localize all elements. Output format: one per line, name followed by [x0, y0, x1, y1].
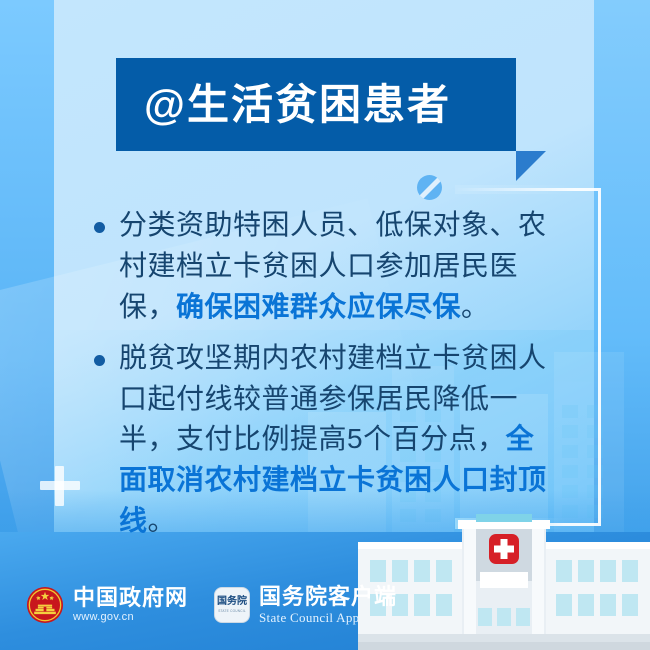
brand-gov-cn-url: www.gov.cn	[73, 612, 188, 624]
bullet-text-2: 脱贫攻坚期内农村建档立卡贫困人口起付线较普通参保居民降低一半，支付比例提高5个百…	[119, 338, 562, 542]
brand-state-council-en: State Council App	[259, 611, 397, 625]
bullet-1-seg-2: 。	[461, 291, 490, 322]
china-national-emblem-icon	[26, 586, 64, 624]
bullet-text-1: 分类资助特困人员、低保对象、农村建档立卡贫困人口参加居民医保，确保困难群众应保尽…	[119, 205, 562, 328]
bullet-dot-icon	[94, 222, 105, 233]
list-item: 脱贫攻坚期内农村建档立卡贫困人口起付线较普通参保居民降低一半，支付比例提高5个百…	[94, 338, 562, 542]
footer: 中国政府网 www.gov.cn 国务院 STATE COUNCIL 国务院客户…	[0, 560, 650, 650]
poster-root: @生活贫困患者 分类资助特困人员、低保对象、农村建档立卡贫困人口参加居民医保，确…	[0, 0, 650, 650]
bullet-2-seg-0: 脱贫攻坚期内农村建档立卡贫困人口起付线较普通参保居民降低一半，支付比例提高5个百…	[119, 342, 547, 455]
bullet-2-seg-2: 。	[148, 505, 177, 536]
corner-bracket-frame-top-fade	[455, 185, 575, 194]
title-banner: @生活贫困患者	[116, 58, 516, 151]
bullet-1-seg-1-highlight: 确保困难群众应保尽保	[176, 291, 461, 322]
state-council-app-icon-sublabel: STATE COUNCIL	[218, 609, 246, 613]
brand-state-council-app[interactable]: 国务院 STATE COUNCIL 国务院客户端 State Council A…	[214, 585, 397, 625]
circle-slash-icon	[417, 175, 442, 200]
state-council-app-icon: 国务院 STATE COUNCIL	[214, 587, 250, 623]
brand-state-council-text: 国务院客户端 State Council App	[259, 585, 397, 625]
brand-gov-cn-text: 中国政府网 www.gov.cn	[73, 586, 188, 624]
bullet-dot-icon	[94, 355, 105, 366]
banner-fold-triangle	[516, 151, 546, 181]
state-council-app-icon-label: 国务院	[217, 597, 247, 607]
plus-decoration-icon	[40, 466, 80, 506]
bullet-list: 分类资助特困人员、低保对象、农村建档立卡贫困人口参加居民医保，确保困难群众应保尽…	[94, 205, 562, 552]
brand-gov-cn-name: 中国政府网	[73, 586, 188, 609]
brand-state-council-name: 国务院客户端	[259, 585, 397, 608]
page-title: @生活贫困患者	[144, 84, 451, 126]
brand-gov-cn[interactable]: 中国政府网 www.gov.cn	[26, 586, 188, 624]
list-item: 分类资助特困人员、低保对象、农村建档立卡贫困人口参加居民医保，确保困难群众应保尽…	[94, 205, 562, 328]
